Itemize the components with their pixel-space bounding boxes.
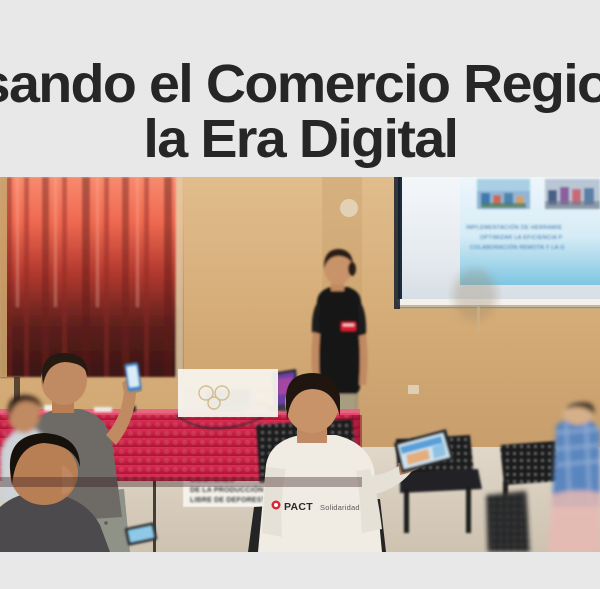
flipchart-paper	[178, 369, 278, 417]
wall-switch-icon	[408, 385, 419, 394]
screen-cord	[477, 307, 480, 333]
headline-line-1: Impulsando el Comercio Regional en	[0, 54, 600, 114]
svg-text:Solidaridad: Solidaridad	[320, 503, 360, 512]
slide-text-line-3: COLABORACIÓN REMOTA Y LA G	[470, 244, 565, 251]
projection-screen: IMPLEMENTACIÓN DE HERRAMIE OPTIMIZAR LA …	[398, 177, 600, 321]
red-curtains	[0, 177, 200, 377]
chair-foreground-right	[486, 491, 530, 552]
headline-block: Impulsando el Comercio Regional en la Er…	[0, 38, 600, 177]
event-photograph: IMPLEMENTACIÓN DE HERRAMIE OPTIMIZAR LA …	[0, 177, 600, 552]
slide-text: IMPLEMENTACIÓN DE HERRAMIE OPTIMIZAR LA …	[466, 224, 565, 251]
slide-text-line-1: IMPLEMENTACIÓN DE HERRAMIE	[466, 224, 562, 231]
table-shadow	[0, 477, 362, 487]
headline-line-2: la Era Digital	[143, 110, 457, 168]
ceiling-fixture-icon	[340, 199, 358, 217]
screen-left-frame	[394, 177, 400, 309]
photo-scene: IMPLEMENTACIÓN DE HERRAMIE OPTIMIZAR LA …	[0, 177, 600, 552]
slide-text-line-2: OPTIMIZAR LA EFICIENCIA P	[480, 235, 562, 241]
left-column	[0, 177, 7, 377]
svg-text:PACT: PACT	[284, 501, 313, 513]
